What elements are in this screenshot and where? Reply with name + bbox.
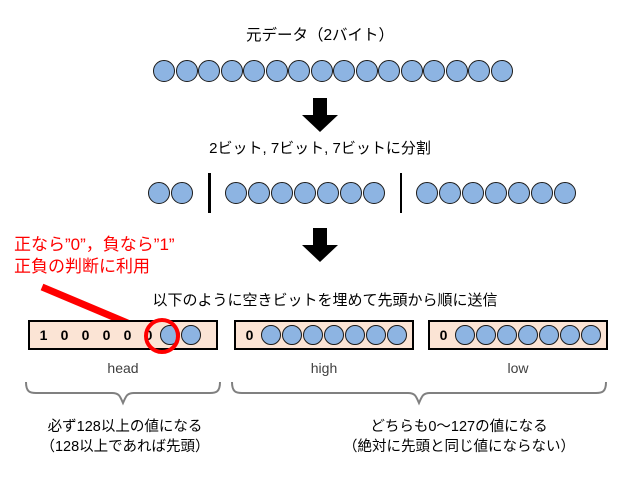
group-7bit-low (416, 182, 577, 204)
split-bit-row (148, 173, 577, 213)
packet-digit: 0 (239, 327, 260, 343)
bit-circle (171, 182, 193, 204)
footnote-payload-line1: どちらも0〜127の値になる (280, 418, 638, 438)
bit-circle (356, 60, 378, 82)
diagram-canvas: 元データ（2バイト） 2ビット, 7ビット, 7ビットに分割 正なら”0”，負な… (0, 0, 640, 484)
bit-circle (148, 182, 170, 204)
bit-circle (554, 182, 576, 204)
bit-circle (462, 182, 484, 204)
bit-circle (243, 60, 265, 82)
bit-circle (401, 60, 423, 82)
bit-circle (446, 60, 468, 82)
bit-circle (468, 60, 490, 82)
bit-circle (531, 182, 553, 204)
footnote-head: 必ず128以上の値になる （128以上であれば先頭） (10, 418, 240, 457)
bit-circle (225, 182, 247, 204)
brace-payload (230, 380, 612, 406)
packet-bit-circle (497, 325, 517, 345)
bit-circle (340, 182, 362, 204)
bit-circle (491, 60, 513, 82)
packet-bit-circle (476, 325, 496, 345)
packet-bit-circle (560, 325, 580, 345)
bit-circle (294, 182, 316, 204)
packet-bit-circle (345, 325, 365, 345)
bit-circle (439, 182, 461, 204)
bit-circle (266, 60, 288, 82)
packet-bit-circle (303, 325, 323, 345)
packet-bit-circle (518, 325, 538, 345)
packet-digit: 0 (117, 327, 138, 343)
bit-circle (485, 182, 507, 204)
packet-bit-circle (282, 325, 302, 345)
footnote-head-line1: 必ず128以上の値になる (10, 418, 240, 438)
bit-circle (176, 60, 198, 82)
packet-digit: 0 (433, 327, 454, 343)
packet-bit-circle (387, 325, 407, 345)
bit-circle (288, 60, 310, 82)
footnote-payload: どちらも0〜127の値になる （絶対に先頭と同じ値にならない） (280, 418, 638, 457)
bit-circle (363, 182, 385, 204)
flow-arrow-1 (298, 98, 342, 137)
bit-circle (248, 182, 270, 204)
packet-bit-circle (581, 325, 601, 345)
packet-digit: 0 (75, 327, 96, 343)
flow-arrow-2 (298, 228, 342, 267)
packet-digit: 0 (54, 327, 75, 343)
bit-circle (221, 60, 243, 82)
segment-label-high: high (234, 360, 414, 376)
brace-head (24, 380, 224, 406)
packet-digit: 1 (33, 327, 54, 343)
group-2bit (148, 182, 194, 204)
bit-circle (198, 60, 220, 82)
packet-box-head: 100000 (28, 320, 218, 350)
packet-digit: 0 (96, 327, 117, 343)
bit-circle (423, 60, 445, 82)
bit-circle (333, 60, 355, 82)
bit-circle (416, 182, 438, 204)
page-title: 元データ（2バイト） (0, 26, 640, 45)
packet-bit-circle (324, 325, 344, 345)
bit-circle (153, 60, 175, 82)
packet-bit-circle (261, 325, 281, 345)
packet-bit-circle (539, 325, 559, 345)
split-divider-bar (208, 173, 211, 213)
packet-box-high: 0 (234, 320, 414, 350)
footnote-payload-line2: （絶対に先頭と同じ値にならない） (280, 438, 638, 458)
group-7bit-high (225, 182, 386, 204)
sign-bit-annotation-line1: 正なら”0”，負なら”1” (14, 234, 175, 256)
segment-label-head: head (28, 360, 218, 376)
bit-circle (271, 182, 293, 204)
bit-circle (317, 182, 339, 204)
original-data-bit-row (153, 60, 513, 82)
bit-circle (508, 182, 530, 204)
packet-box-low: 0 (428, 320, 608, 350)
footnote-head-line2: （128以上であれば先頭） (10, 438, 240, 458)
send-caption: 以下のように空きビットを埋めて先頭から順に送信 (90, 292, 560, 311)
packet-bit-circle (181, 325, 201, 345)
bit-circle (378, 60, 400, 82)
split-caption: 2ビット, 7ビット, 7ビットに分割 (0, 140, 640, 159)
split-divider-bar (400, 173, 403, 213)
packet-bit-circle (366, 325, 386, 345)
packet-bit-circle (455, 325, 475, 345)
segment-label-low: low (428, 360, 608, 376)
sign-bit-highlight-ellipse (144, 318, 180, 354)
bit-circle (311, 60, 333, 82)
